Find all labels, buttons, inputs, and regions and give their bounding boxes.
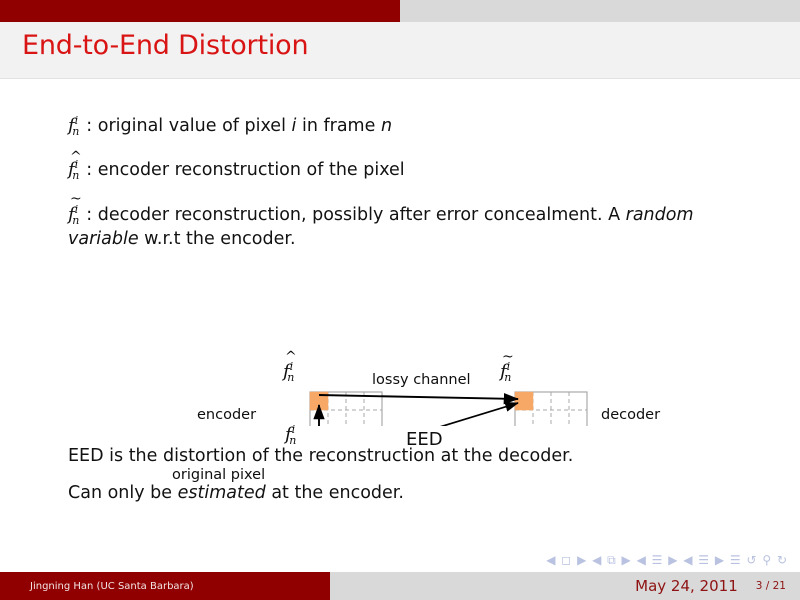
math-symbol-f-original: fin <box>68 117 85 135</box>
math-symbol-f-hat: ^fin <box>68 159 85 179</box>
definition-text-mid: in frame <box>296 116 381 136</box>
definition-decoder-reconstruction: ~fin: decoder reconstruction, possibly a… <box>68 201 758 251</box>
slide-content: fin: original value of pixel i in frame … <box>0 79 800 549</box>
grid-decoder-reconstruction <box>515 392 587 426</box>
footer-meta: May 24, 2011 3 / 21 <box>550 572 800 600</box>
title-band: End-to-End Distortion <box>0 22 800 79</box>
footer-author: Jingning Han (UC Santa Barbara) <box>0 572 330 600</box>
conclusion-eed-definition: EED is the distortion of the reconstruct… <box>68 448 573 466</box>
eed-diagram: encoder decoder original pixel lossy cha… <box>0 271 800 426</box>
footer-spacer <box>330 572 550 600</box>
definition-text: : decoder reconstruction, possibly after… <box>86 205 625 225</box>
slide-footer: Jingning Han (UC Santa Barbara) May 24, … <box>0 572 800 600</box>
eed-diagram-svg <box>0 271 800 426</box>
navigation-glyphs[interactable]: ◀ ◻ ▶ ◀ ⧉ ▶ ◀ ☰ ▶ ◀ ☰ ▶ ☰ ↺ ⚲ ↻ <box>546 553 788 567</box>
conclusion-text: Can only be <box>68 483 178 503</box>
conclusion-text-after: at the encoder. <box>266 483 404 503</box>
conclusion-estimated: Can only be estimated at the encoder. <box>68 485 404 503</box>
figure-symbol-encoder-recon: ^fin <box>283 359 301 382</box>
definition-text: : encoder reconstruction of the pixel <box>86 160 404 180</box>
figure-label-decoder: decoder <box>601 407 660 423</box>
beamer-navigation-symbols[interactable]: ◀ ◻ ▶ ◀ ⧉ ▶ ◀ ☰ ▶ ◀ ☰ ▶ ☰ ↺ ⚲ ↻ <box>0 553 800 571</box>
figure-label-encoder: encoder <box>197 407 256 423</box>
figure-symbol-decoder-recon: ~fin <box>500 359 518 382</box>
definition-original-value: fin: original value of pixel i in frame … <box>68 117 392 136</box>
definition-encoder-reconstruction: ^fin: encoder reconstruction of the pixe… <box>68 159 405 180</box>
header-bar-grey <box>400 0 800 22</box>
footer-date: May 24, 2011 <box>635 577 738 595</box>
figure-label-original-pixel: original pixel <box>172 467 265 483</box>
definition-text-mid: w.r.t the encoder. <box>139 229 296 249</box>
page-title: End-to-End Distortion <box>22 30 308 61</box>
highlighted-pixel-decoder <box>515 392 533 410</box>
header-bar-red <box>0 0 400 22</box>
grid-encoder-reconstruction <box>310 392 382 426</box>
footer-page-number: 3 / 21 <box>756 580 786 592</box>
definition-emph-n: n <box>381 116 392 136</box>
conclusion-emph-estimated: estimated <box>178 483 266 503</box>
math-symbol-f-tilde: ~fin <box>68 201 85 227</box>
figure-label-lossy-channel: lossy channel <box>372 372 471 388</box>
header-decoration-bar <box>0 0 800 22</box>
definition-text: : original value of pixel <box>86 116 291 136</box>
conclusion-text: EED is the distortion of the reconstruct… <box>68 446 573 466</box>
figure-symbol-original: fin <box>285 424 303 445</box>
